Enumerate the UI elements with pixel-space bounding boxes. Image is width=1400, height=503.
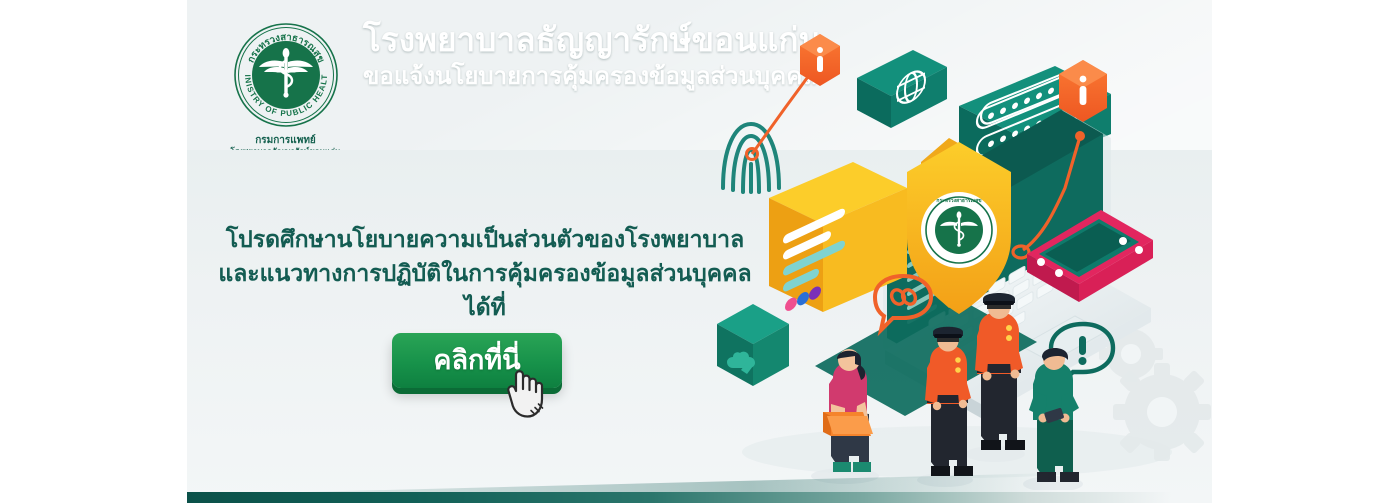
globe-card-icon xyxy=(857,50,947,128)
logo-caption-department: กรมการแพทย์ xyxy=(218,135,353,147)
bottom-accent-bar xyxy=(187,492,1212,503)
policy-message-line-2: และแนวทางการปฏิบัติในการคุ้มครองข้อมูลส่… xyxy=(205,256,765,290)
screenshot-canvas: กระทรวงสาธารณสุข MINISTRY OF PUBLIC HEAL… xyxy=(0,0,1400,503)
policy-message-line-1: โปรดศึกษานโยบายความเป็นส่วนตัวของโรงพยาบ… xyxy=(205,222,765,256)
connector-line-left xyxy=(747,68,815,160)
pointing-hand-cursor-icon xyxy=(496,359,562,421)
privacy-illustration: กระทรวงสาธารณสุข xyxy=(707,22,1212,490)
svg-text:กระทรวงสาธารณสุข: กระทรวงสาธารณสุข xyxy=(936,198,982,204)
logo-block: กระทรวงสาธารณสุข MINISTRY OF PUBLIC HEAL… xyxy=(218,22,353,156)
policy-message-line-3: ได้ที่ xyxy=(205,290,765,324)
ministry-of-public-health-seal-icon: กระทรวงสาธารณสุข MINISTRY OF PUBLIC HEAL… xyxy=(233,22,339,128)
privacy-policy-banner: กระทรวงสาธารณสุข MINISTRY OF PUBLIC HEAL… xyxy=(187,0,1212,503)
cta-block: คลิกที่นี่ xyxy=(392,333,582,405)
cloud-upload-cube-icon xyxy=(717,304,789,386)
policy-message: โปรดศึกษานโยบายความเป็นส่วนตัวของโรงพยาบ… xyxy=(205,222,765,324)
